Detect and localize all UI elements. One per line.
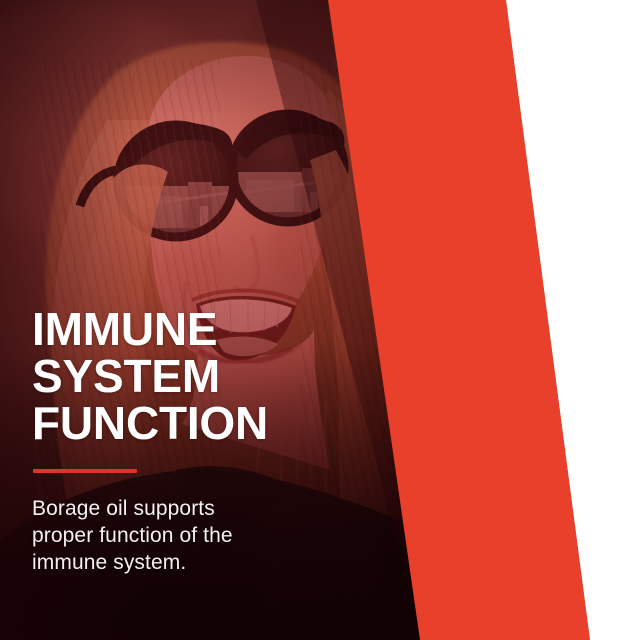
body-line-3: immune system. [32,549,332,576]
accent-rule [33,469,137,473]
headline-line-3: FUNCTION [32,400,332,447]
body-line-1: Borage oil supports [32,495,332,522]
promo-banner: IMMUNE SYSTEM FUNCTION Borage oil suppor… [0,0,640,640]
headline-line-1: IMMUNE [32,306,332,353]
page-title: IMMUNE SYSTEM FUNCTION [32,306,332,447]
body-copy: Borage oil supports proper function of t… [32,495,332,576]
body-line-2: proper function of the [32,522,332,549]
headline-line-2: SYSTEM [32,353,332,400]
text-block: IMMUNE SYSTEM FUNCTION Borage oil suppor… [32,306,332,576]
